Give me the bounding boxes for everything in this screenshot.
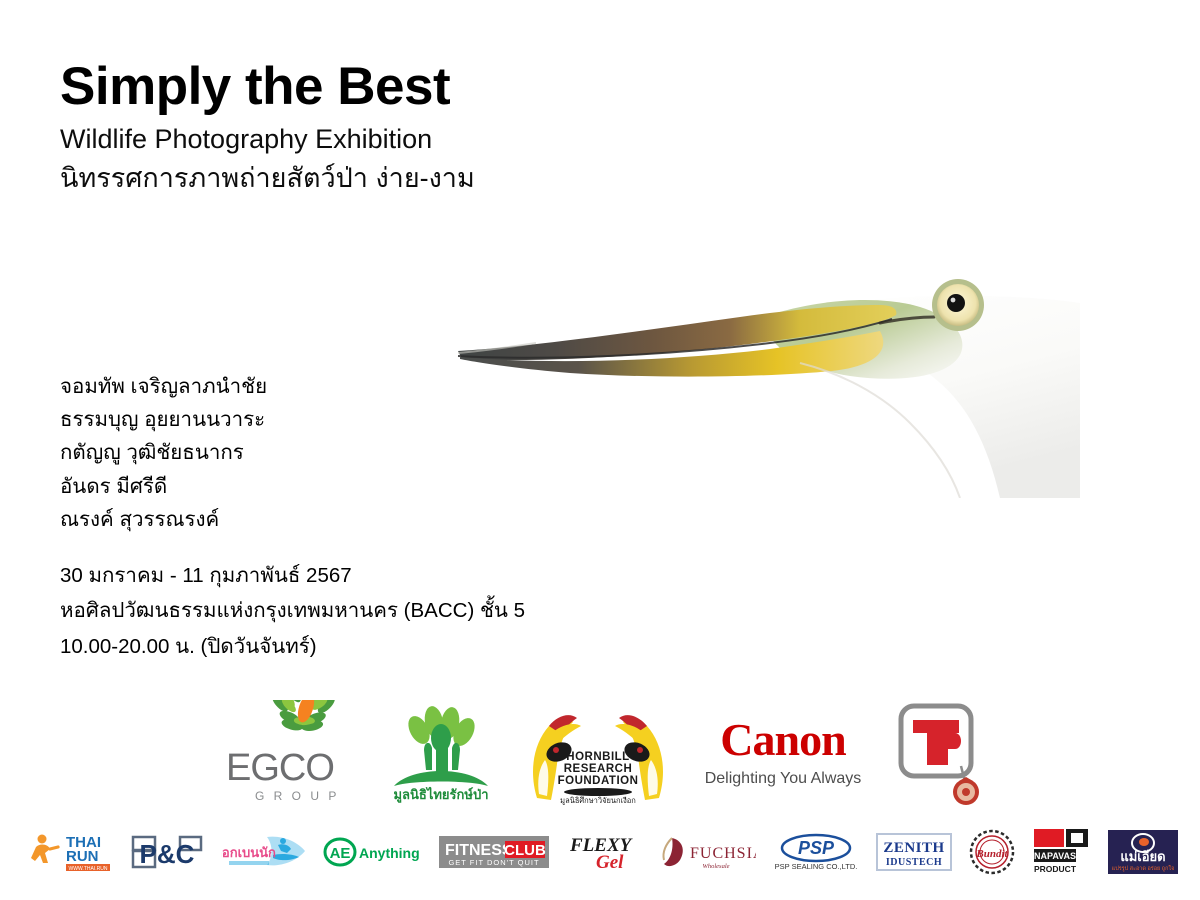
fitness-club-icon: FITNESS CLUB GET FIT DON'T QUIT: [439, 832, 549, 872]
thai-rak-pa-icon: มูลนิธิไทยรักษ์ป่า: [386, 704, 496, 804]
sponsor-logo-anything-else: AE Anything Else: [323, 827, 423, 877]
napavas-line-2: PRODUCT: [1034, 864, 1077, 874]
anything-else-icon: AE Anything Else: [323, 832, 423, 872]
artist-list: จอมทัพ เจริญลาภนำชัย ธรรมบุญ อุยยานนวาระ…: [60, 370, 400, 536]
egco-wordmark: EGCO: [226, 747, 334, 789]
list-item: ธรรมบุญ อุยยานนวาระ: [60, 403, 400, 436]
sponsor-logo-psp-sealing: PSP PSP SEALING CO.,LTD.: [773, 827, 859, 877]
napavas-product-icon: NAPAVAS PRODUCT: [1032, 827, 1090, 877]
zenith-idustech-icon: ZENITH IDUSTECH: [875, 831, 953, 873]
mae-iad-icon: แม่เอียด แปรรูป สะอาด อร่อย ถูกใจ: [1106, 828, 1180, 876]
event-venue: หอศิลปวัฒนธรรมแห่งกรุงเทพมหานคร (BACC) ช…: [60, 593, 660, 628]
small-sponsor-row: THAI RUN WWW.THAI.RUN P&C ออกเบนนัก: [28, 824, 1180, 880]
fitness-club-line-3: GET FIT DON'T QUIT: [449, 858, 540, 867]
canon-wordmark: Canon: [720, 714, 846, 765]
psp-wordmark: PSP SEALING CO.,LTD.: [774, 862, 857, 871]
runner-icon: [31, 835, 58, 864]
bundit-wordmark: Bundit: [976, 848, 1009, 860]
poster-subtitle-th: นิทรรศการภาพถ่ายสัตว์ป่า ง่าย-งาม: [60, 161, 620, 196]
sponsor-logo-tp: TP: [893, 699, 985, 809]
sponsor-logo-thai-rak-pa: มูลนิธิไทยรักษ์ป่า: [386, 699, 496, 809]
sponsor-logo-thai-run: THAI RUN WWW.THAI.RUN: [28, 827, 114, 877]
tp-logo-icon: TP: [893, 700, 985, 808]
egco-group-icon: EGCO G R O U P: [225, 700, 360, 808]
sponsor-logo-flexy-gel: FLEXY Gel: [566, 827, 640, 877]
canon-icon: Canon Delighting You Always: [699, 711, 867, 797]
hand-tree-icon: [394, 705, 488, 786]
sponsor-logo-bundit-seal: Bundit: [969, 827, 1015, 877]
sponsor-logo-egco-group: EGCO G R O U P: [225, 699, 360, 809]
egco-leafburst-icon: [269, 700, 337, 733]
page-title: Simply the Best: [60, 58, 620, 115]
anything-else-badge: AE: [330, 845, 351, 862]
p-and-c-icon: P&C: [130, 829, 204, 875]
zenith-line-1: ZENITH: [883, 840, 944, 856]
hornbill-line-2: RESEARCH: [563, 763, 632, 775]
sponsor-logo-p-and-c: P&C: [130, 827, 204, 877]
sponsor-logo-hornbill-research-foundation: HORNBILL RESEARCH FOUNDATION มูลนิธิศึกษ…: [523, 699, 673, 809]
poster-subtitle-en: Wildlife Photography Exhibition: [60, 123, 620, 157]
title-block: Simply the Best Wildlife Photography Exh…: [60, 58, 620, 196]
list-item: อันดร มีศรีดี: [60, 470, 400, 503]
jetski-icon: ออกเบนนัก: [221, 829, 307, 875]
mae-iad-tagline: แปรรูป สะอาด อร่อย ถูกใจ: [1112, 865, 1175, 872]
hornbill-line-4: มูลนิธิศึกษาวิจัยนกเงือก: [560, 796, 636, 805]
flexy-gel-icon: FLEXY Gel: [566, 830, 640, 874]
egret-head-illustration: [440, 243, 1080, 498]
thai-run-line-2: RUN: [66, 848, 99, 865]
egret-pupil: [947, 294, 965, 312]
hornbill-foundation-icon: HORNBILL RESEARCH FOUNDATION มูลนิธิศึกษ…: [523, 702, 673, 807]
hornbill-line-1: HORNBILL: [566, 751, 629, 763]
sponsor-logo-jetski-club: ออกเบนนัก: [221, 827, 307, 877]
sponsor-logo-fitness-club: FITNESS CLUB GET FIT DON'T QUIT: [439, 827, 549, 877]
sponsor-logo-canon: Canon Delighting You Always: [699, 699, 867, 809]
anything-else-wordmark: Anything Else: [359, 845, 423, 861]
event-dates: 30 มกราคม - 11 กุมภาพันธ์ 2567: [60, 558, 660, 593]
canon-tagline: Delighting You Always: [704, 770, 861, 787]
list-item: กตัญญู วุฒิชัยธนากร: [60, 436, 400, 469]
mae-iad-wordmark: แม่เอียด: [1120, 849, 1165, 864]
thai-rak-pa-wordmark: มูลนิธิไทยรักษ์ป่า: [394, 786, 489, 803]
list-item: จอมทัพ เจริญลาภนำชัย: [60, 370, 400, 403]
fitness-club-line-2: CLUB: [505, 842, 547, 859]
egco-tagline: G R O U P: [255, 789, 339, 803]
fitness-club-line-1: FITNESS: [445, 842, 513, 859]
fuchsia-icon: FUCHSIA Wholesale: [656, 830, 756, 874]
flexy-gel-line-2: Gel: [596, 852, 624, 873]
psp-badge: PSP: [798, 838, 835, 858]
fuchsia-tagline: Wholesale: [703, 863, 730, 870]
fuchsia-wordmark: FUCHSIA: [690, 845, 756, 862]
event-hours: 10.00-20.00 น. (ปิดวันจันทร์): [60, 629, 660, 664]
napavas-line-1: NAPAVAS: [1034, 851, 1076, 861]
sponsor-logo-mae-iad: แม่เอียด แปรรูป สะอาด อร่อย ถูกใจ: [1106, 827, 1180, 877]
p-and-c-wordmark: P&C: [140, 839, 195, 869]
sponsor-logo-napavas-product: NAPAVAS PRODUCT: [1032, 827, 1090, 877]
main-sponsor-row: EGCO G R O U P มูลนิธิไทยรักษ์ป่า: [225, 698, 985, 810]
egret-eye-catchlight: [951, 298, 956, 303]
bundit-seal-icon: Bundit: [969, 829, 1015, 875]
event-details: 30 มกราคม - 11 กุมภาพันธ์ 2567 หอศิลปวัฒ…: [60, 558, 660, 664]
sponsor-logo-zenith-idustech: ZENITH IDUSTECH: [875, 827, 953, 877]
hornbill-line-3: FOUNDATION: [557, 775, 638, 787]
psp-sealing-icon: PSP PSP SEALING CO.,LTD.: [773, 830, 859, 874]
thai-run-icon: THAI RUN WWW.THAI.RUN: [28, 829, 114, 875]
jetski-wordmark: ออกเบนนัก: [221, 845, 276, 860]
thai-run-line-3: WWW.THAI.RUN: [69, 866, 108, 872]
sponsor-logo-fuchsia: FUCHSIA Wholesale: [656, 827, 756, 877]
zenith-line-2: IDUSTECH: [886, 857, 942, 868]
egret-photograph: [440, 243, 1080, 498]
list-item: ณรงค์ สุวรรณรงค์: [60, 503, 400, 536]
